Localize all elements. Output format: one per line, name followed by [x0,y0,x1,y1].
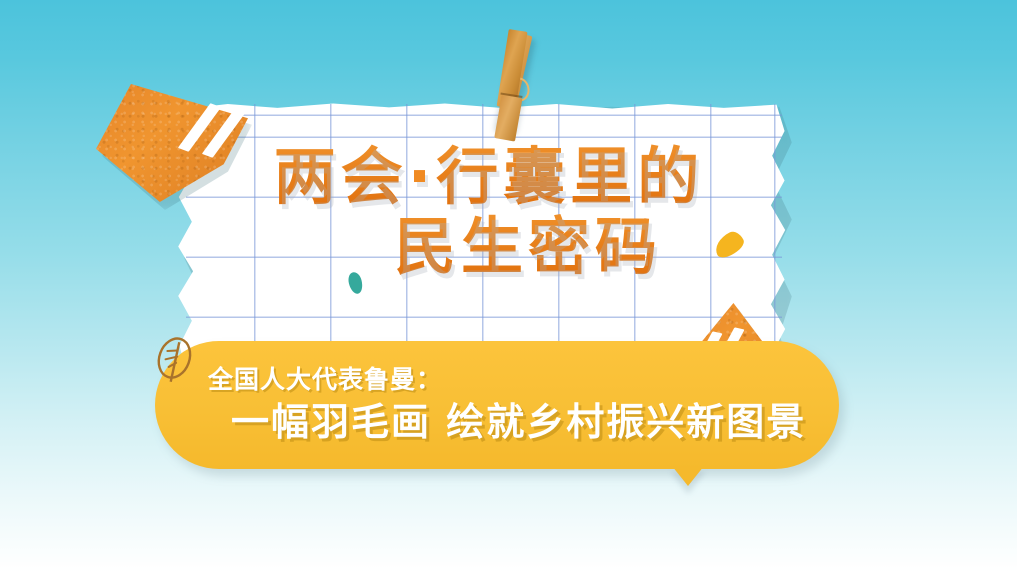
poster-canvas: 两会·行囊里的 民生密码 全国人大代表鲁曼： 一幅羽毛画 绘就乡村振兴新图景 [0,0,1017,572]
banner-line-1: 全国人大代表鲁曼： [155,365,839,395]
feather-icon [149,333,202,391]
banner-tail [672,466,704,486]
quote-mark-top-left [96,84,248,202]
subtitle-banner-text: 全国人大代表鲁曼： 一幅羽毛画 绘就乡村振兴新图景 [155,341,839,469]
banner-line-2: 一幅羽毛画 绘就乡村振兴新图景 [155,398,839,446]
quote-top-left-texture [96,84,248,202]
